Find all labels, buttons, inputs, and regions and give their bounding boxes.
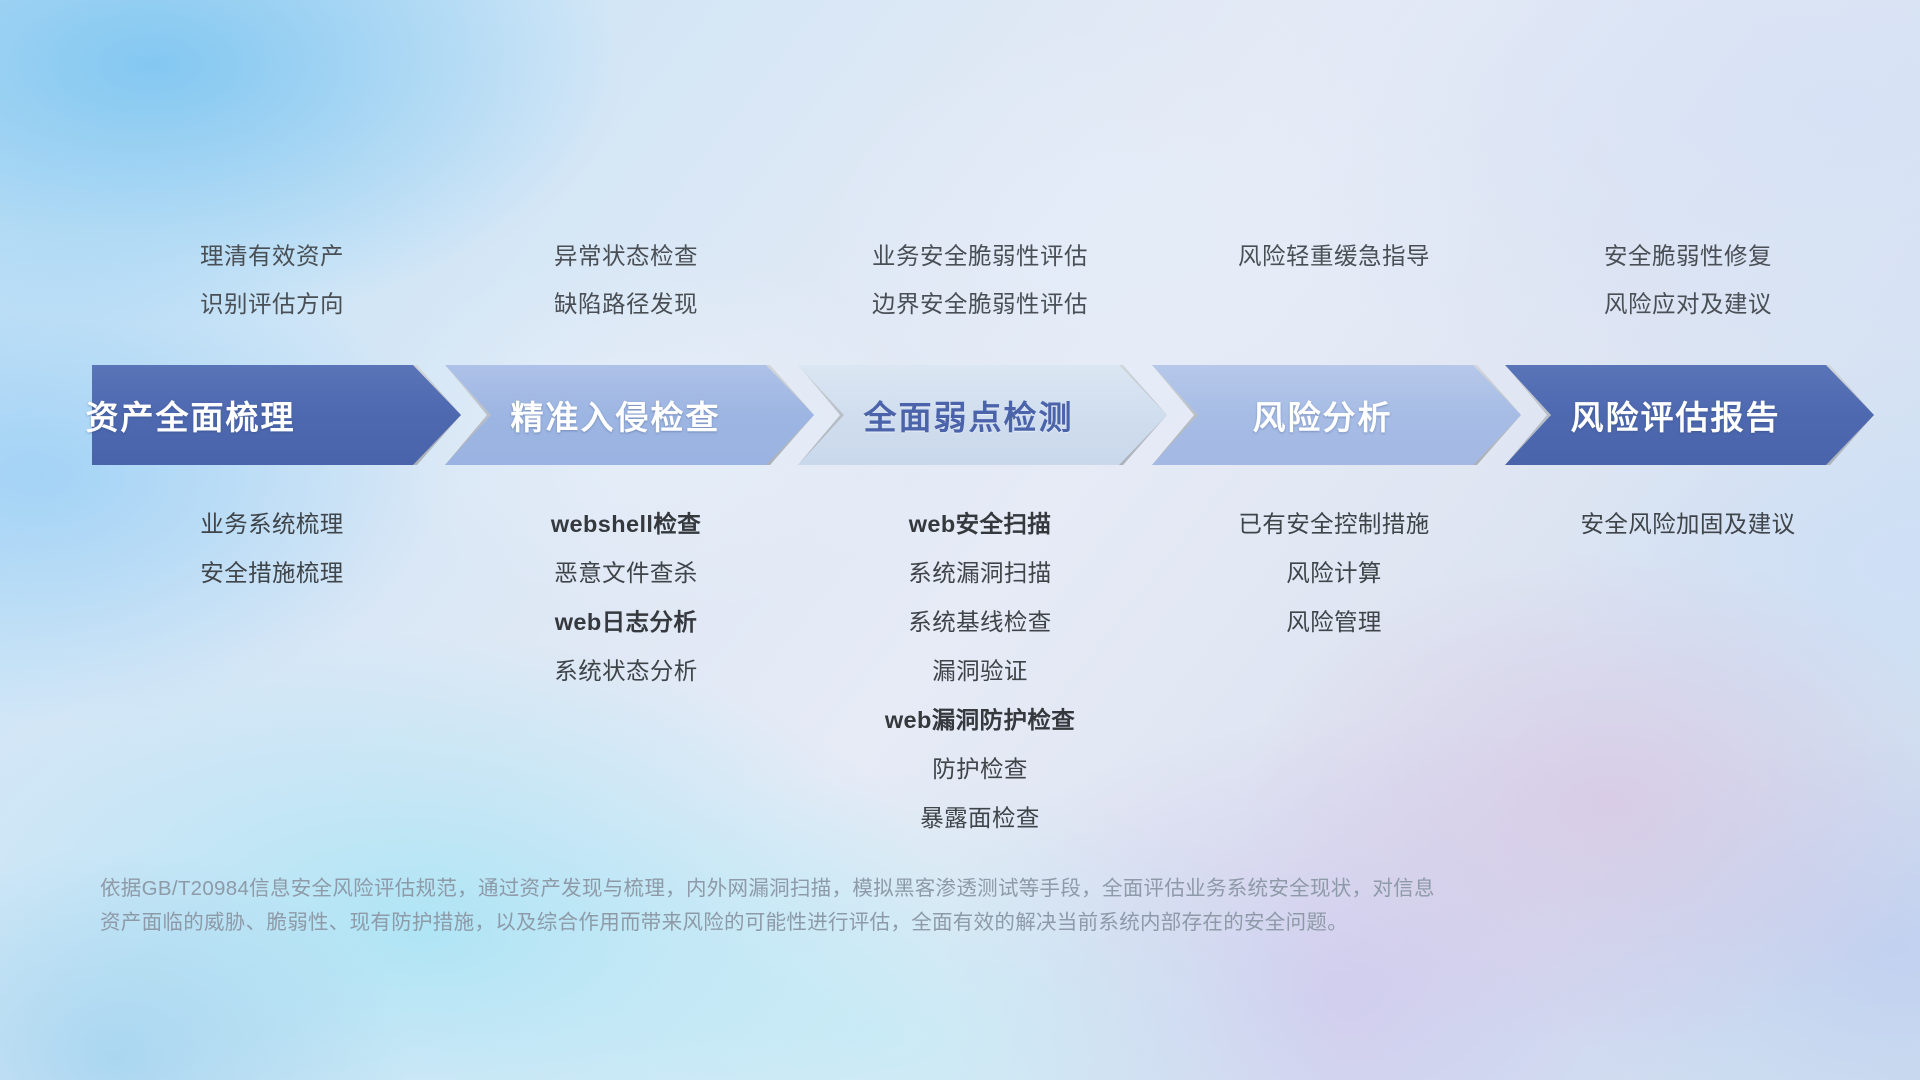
top-note: 安全脆弱性修复 xyxy=(1604,232,1772,280)
list-item: 漏洞验证 xyxy=(932,647,1028,696)
stage-label: 风险评估报告 xyxy=(1571,391,1781,439)
list-item: 风险计算 xyxy=(1286,549,1382,598)
bottom-list-column-risk-analysis: 已有安全控制措施风险计算风险管理 xyxy=(1157,500,1511,647)
list-item: 防护检查 xyxy=(932,745,1028,794)
slide-canvas: 理清有效资产识别评估方向异常状态检查缺陷路径发现业务安全脆弱性评估边界安全脆弱性… xyxy=(0,0,1920,1080)
bottom-list-column-asset-inventory: 业务系统梳理安全措施梳理 xyxy=(95,500,449,598)
top-notes-column-weakness-detection: 业务安全脆弱性评估边界安全脆弱性评估 xyxy=(803,232,1157,328)
stage-label: 全面弱点检测 xyxy=(864,391,1074,439)
footer-line-2: 资产面临的威胁、脆弱性、现有防护措施，以及综合作用而带来风险的可能性进行评估，全… xyxy=(100,906,1825,940)
bottom-list-column-risk-report: 安全风险加固及建议 xyxy=(1511,500,1865,549)
stage-label: 风险分析 xyxy=(1253,391,1393,439)
list-item: 恶意文件查杀 xyxy=(554,549,697,598)
top-note: 缺陷路径发现 xyxy=(554,280,698,328)
top-note: 业务安全脆弱性评估 xyxy=(872,232,1088,280)
top-note: 风险轻重缓急指导 xyxy=(1238,232,1430,280)
process-stage-risk-analysis[interactable]: 风险分析 xyxy=(1152,365,1521,465)
top-notes-column-intrusion-check: 异常状态检查缺陷路径发现 xyxy=(449,232,803,328)
list-item: 安全风险加固及建议 xyxy=(1580,500,1795,549)
list-item: 风险管理 xyxy=(1286,598,1382,647)
stage-label: 精准入侵检查 xyxy=(511,391,721,439)
process-stage-asset-inventory[interactable]: 资产全面梳理 xyxy=(92,365,461,465)
bottom-lists-row: 业务系统梳理安全措施梳理webshell检查恶意文件查杀web日志分析系统状态分… xyxy=(95,500,1865,843)
top-note: 风险应对及建议 xyxy=(1604,280,1772,328)
top-notes-column-risk-analysis: 风险轻重缓急指导 xyxy=(1157,232,1511,280)
top-notes-column-risk-report: 安全脆弱性修复风险应对及建议 xyxy=(1511,232,1865,328)
top-note: 识别评估方向 xyxy=(200,280,344,328)
top-notes-column-asset-inventory: 理清有效资产识别评估方向 xyxy=(95,232,449,328)
footer-line-1: 依据GB/T20984信息安全风险评估规范，通过资产发现与梳理，内外网漏洞扫描，… xyxy=(100,872,1825,906)
list-item: web漏洞防护检查 xyxy=(885,696,1075,745)
list-item: 暴露面检查 xyxy=(920,794,1040,843)
top-note: 理清有效资产 xyxy=(200,232,344,280)
process-stage-risk-report[interactable]: 风险评估报告 xyxy=(1505,365,1874,465)
footer-description: 依据GB/T20984信息安全风险评估规范，通过资产发现与梳理，内外网漏洞扫描，… xyxy=(100,872,1825,940)
list-item: web安全扫描 xyxy=(909,500,1052,549)
list-item: 系统基线检查 xyxy=(908,598,1051,647)
list-item: webshell检查 xyxy=(551,500,701,549)
bottom-list-column-intrusion-check: webshell检查恶意文件查杀web日志分析系统状态分析 xyxy=(449,500,803,696)
list-item: 已有安全控制措施 xyxy=(1238,500,1429,549)
process-stage-weakness-detection[interactable]: 全面弱点检测 xyxy=(798,365,1167,465)
bottom-list-column-weakness-detection: web安全扫描系统漏洞扫描系统基线检查漏洞验证web漏洞防护检查防护检查暴露面检… xyxy=(803,500,1157,843)
top-note: 边界安全脆弱性评估 xyxy=(872,280,1088,328)
list-item: 系统状态分析 xyxy=(554,647,697,696)
stage-label: 资产全面梳理 xyxy=(86,391,296,439)
process-chevron-band: 资产全面梳理精准入侵检查全面弱点检测风险分析风险评估报告 xyxy=(92,365,1874,465)
top-notes-row: 理清有效资产识别评估方向异常状态检查缺陷路径发现业务安全脆弱性评估边界安全脆弱性… xyxy=(95,232,1865,342)
list-item: 业务系统梳理 xyxy=(200,500,343,549)
top-note: 异常状态检查 xyxy=(554,232,698,280)
process-stage-intrusion-check[interactable]: 精准入侵检查 xyxy=(445,365,814,465)
list-item: 系统漏洞扫描 xyxy=(908,549,1051,598)
list-item: web日志分析 xyxy=(555,598,698,647)
slide-content: 理清有效资产识别评估方向异常状态检查缺陷路径发现业务安全脆弱性评估边界安全脆弱性… xyxy=(0,0,1920,1080)
list-item: 安全措施梳理 xyxy=(200,549,343,598)
